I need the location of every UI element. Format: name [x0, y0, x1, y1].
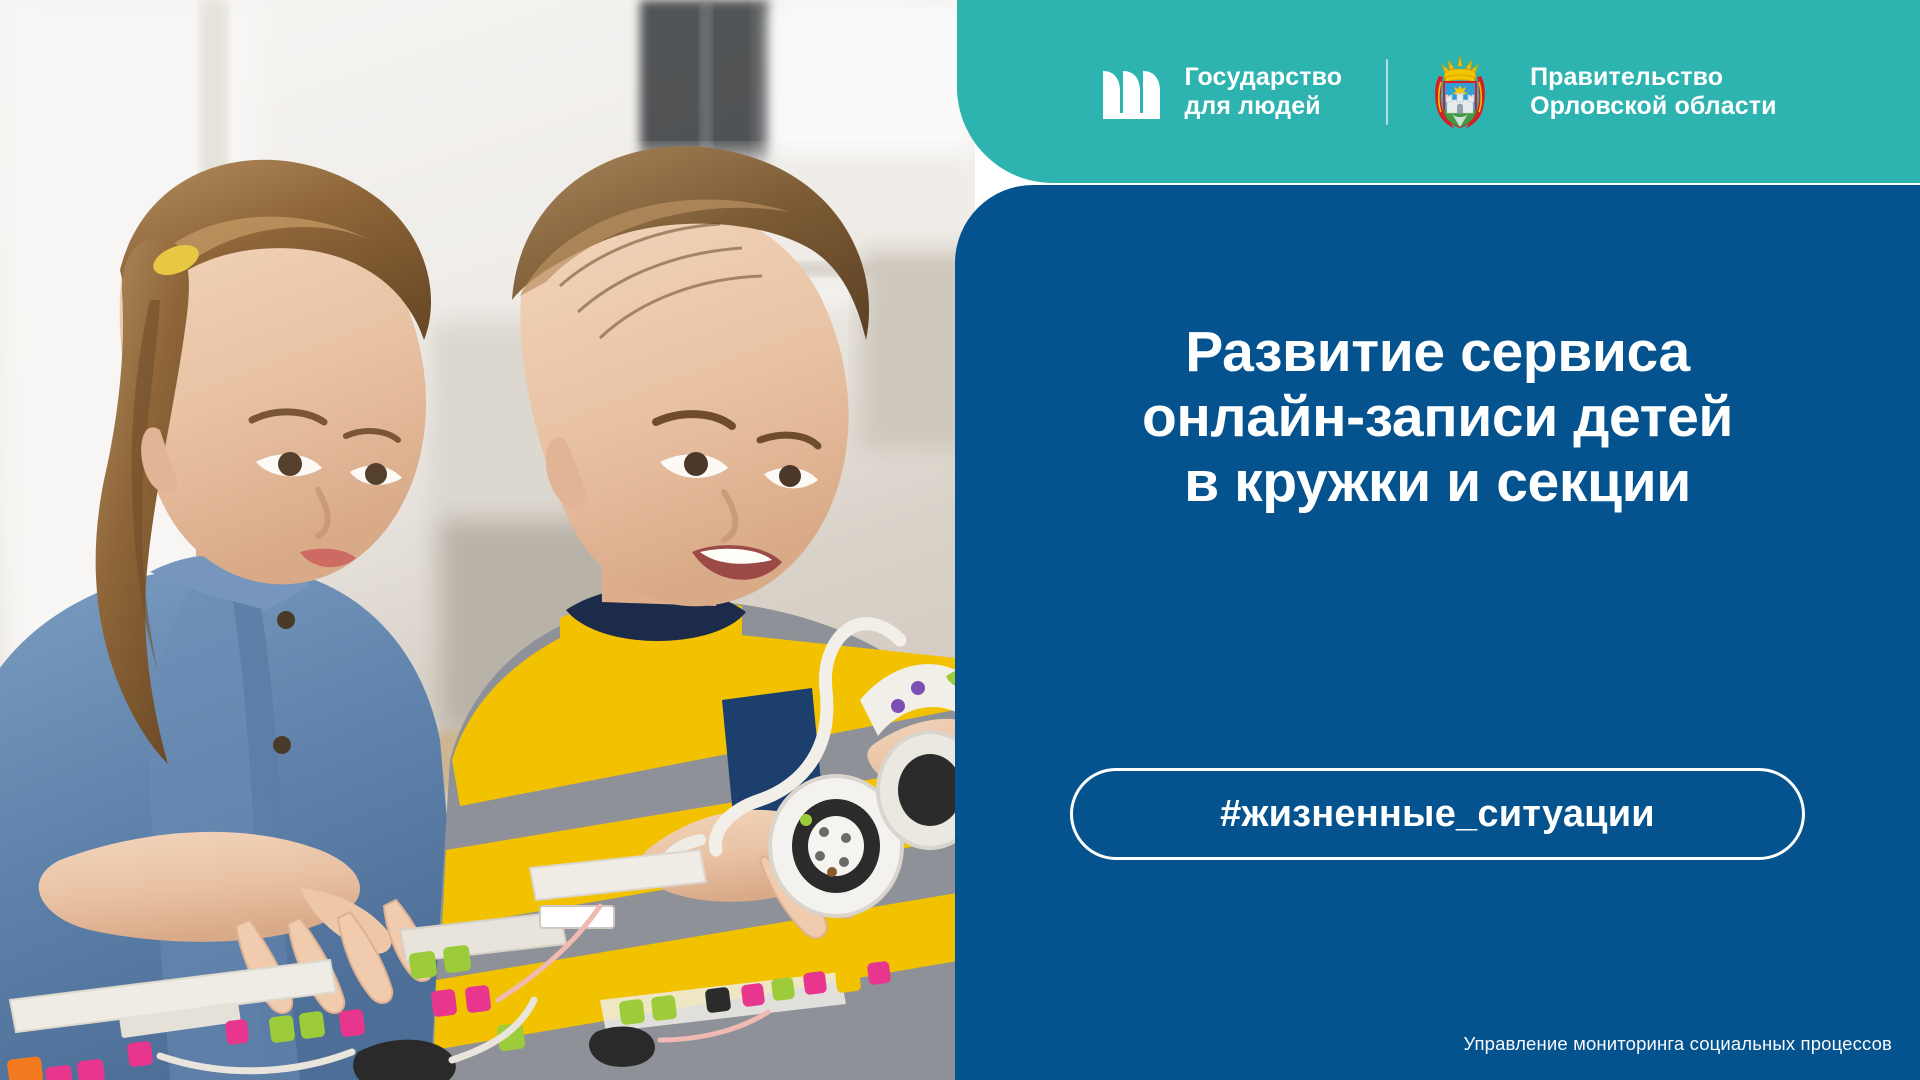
gos-dlya-lyudey-logo[interactable]: Государство для людей [1100, 61, 1342, 123]
gos-dlya-lyudey-label: Государство для людей [1184, 63, 1342, 121]
footer-department: Управление мониторинга социальных процес… [1463, 1033, 1892, 1055]
headline-line-3: в кружки и секции [975, 450, 1900, 515]
headline-line-2: онлайн-записи детей [975, 385, 1900, 450]
hashtag-container: #жизненные_ситуации [975, 768, 1900, 860]
oryol-oblast-coat-of-arms-icon [1432, 54, 1488, 130]
vertical-divider-icon [1386, 59, 1388, 125]
hashtag-button[interactable]: #жизненные_ситуации [1070, 768, 1805, 860]
oryol-government-logo[interactable]: Правительство Орловской области [1432, 54, 1776, 130]
headline-line-1: Развитие сервиса [975, 320, 1900, 385]
poster-canvas: Государство для людей [0, 0, 1920, 1080]
header-bar: Государство для людей [957, 0, 1920, 183]
oryol-government-label: Правительство Орловской области [1530, 63, 1776, 121]
hero-photo [0, 0, 975, 1080]
page-title: Развитие сервиса онлайн-записи детей в к… [975, 320, 1900, 515]
gos-dlya-lyudey-flags-icon [1100, 61, 1162, 123]
